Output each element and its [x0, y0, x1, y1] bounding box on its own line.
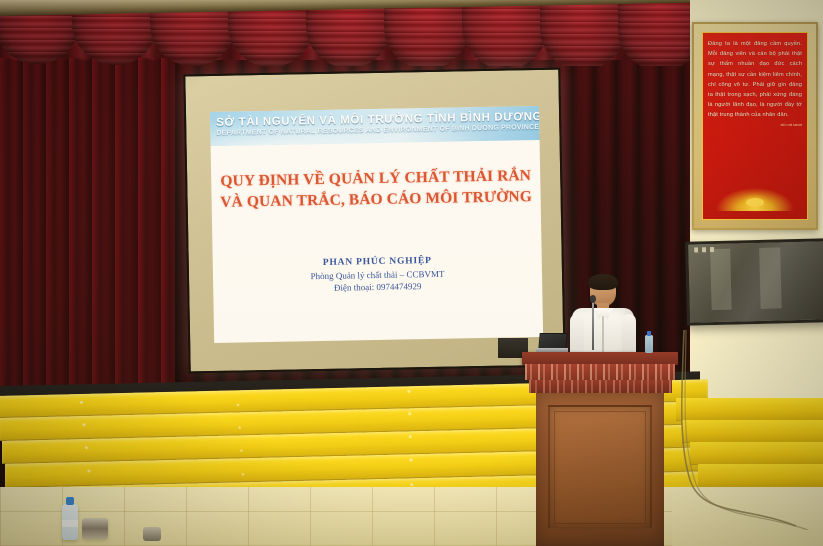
conference-hall-photo: SỞ TÀI NGUYÊN VÀ MÔI TRƯỜNG TỈNH BÌNH DƯ… — [0, 0, 823, 546]
banner-ornament — [711, 185, 799, 211]
podium-carved-band-upper — [525, 364, 675, 380]
curtain-swag — [618, 0, 690, 66]
party-quote-banner: Đảng ta là một đảng cầm quyền. Mỗi đảng … — [692, 22, 818, 230]
projected-slide: SỞ TÀI NGUYÊN VÀ MÔI TRƯỜNG TỈNH BÌNH DƯ… — [210, 106, 543, 343]
curtain-swag — [540, 0, 626, 66]
slide-header-band: SỞ TÀI NGUYÊN VÀ MÔI TRƯỜNG TỈNH BÌNH DƯ… — [210, 106, 540, 146]
display-indicator — [694, 247, 716, 253]
banner-attribution: HỒ CHÍ MINH — [708, 123, 802, 127]
projection-screen: SỞ TÀI NGUYÊN VÀ MÔI TRƯỜNG TỈNH BÌNH DƯ… — [183, 68, 565, 374]
laptop-icon — [536, 333, 568, 352]
floor-container — [82, 518, 108, 539]
laptop-base — [536, 348, 568, 352]
wall-display — [685, 238, 823, 325]
curtain-swag — [306, 0, 392, 66]
display-reflection-pillar-1 — [710, 248, 732, 309]
podium — [528, 352, 672, 546]
water-bottle-floor — [62, 504, 78, 540]
podium-body — [536, 393, 664, 546]
microphone-stand — [592, 300, 594, 350]
slide-title: QUY ĐỊNH VỀ QUẢN LÝ CHẤT THẢI RẮN VÀ QUA… — [219, 166, 533, 213]
curtain-swag — [462, 0, 548, 66]
display-reflection-pillar-2 — [759, 247, 781, 308]
banner-quote-text: Đảng ta là một đảng cầm quyền. Mỗi đảng … — [708, 39, 802, 120]
floor-container-2 — [143, 527, 161, 541]
podium-front-panel — [548, 405, 652, 530]
presenter-person — [572, 276, 634, 360]
display-reflection — [688, 241, 823, 322]
power-cable — [676, 330, 816, 530]
presenter-hair — [588, 274, 618, 290]
podium-carved-band-lower — [529, 380, 672, 393]
slide-presenter-block: PHAN PHÚC NGHIỆP Phòng Quản lý chất thải… — [213, 253, 543, 294]
banner-inner: Đảng ta là một đảng cầm quyền. Mỗi đảng … — [702, 32, 808, 220]
curtain-left-panel — [0, 58, 175, 408]
curtain-swag — [384, 0, 470, 66]
water-bottle-podium — [645, 335, 653, 353]
